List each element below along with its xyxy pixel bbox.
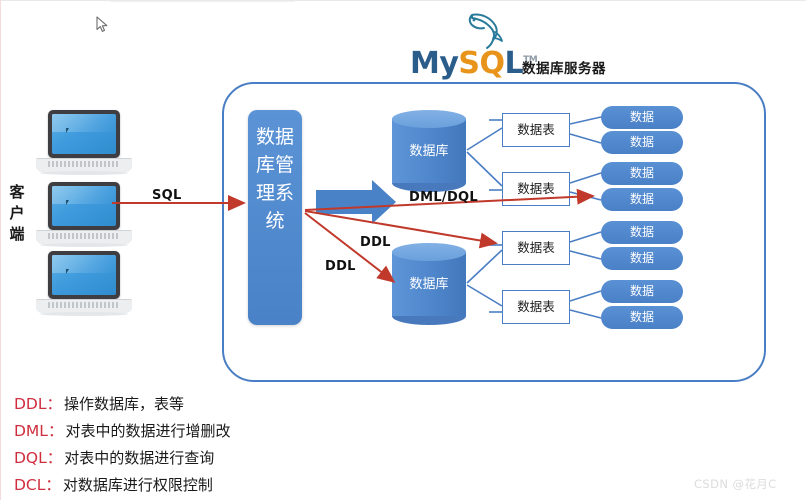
- top-divider-secondary: [110, 1, 295, 2]
- data-pill-label: 数据: [601, 247, 683, 270]
- data-pill-label: 数据: [601, 306, 683, 329]
- diagram-canvas: MySQLTM 数据库服务器: [0, 0, 806, 500]
- data-pill-label: 数据: [601, 188, 683, 211]
- mysql-word-sq: SQ: [458, 46, 504, 81]
- client-laptop-1: [36, 110, 132, 182]
- data-pill-3b: 数据: [601, 247, 683, 270]
- legend-row-dcl: DCL：对数据库进行权限控制: [14, 472, 434, 499]
- laptop-shadow: [40, 243, 128, 247]
- cylinder-top: [392, 110, 466, 128]
- cylinder-top: [392, 243, 466, 261]
- legend-value: 对表中的数据进行增删改: [65, 422, 230, 440]
- ddl-lower-arrow-label: DDL: [325, 259, 356, 274]
- client-laptop-3: [36, 251, 132, 323]
- csdn-watermark: CSDN @花月C: [694, 476, 777, 492]
- sql-arrow-label: SQL: [152, 188, 182, 203]
- database-server-container: [222, 82, 766, 382]
- server-title: 数据库服务器: [522, 57, 606, 77]
- laptop-cursor-icon: [66, 200, 71, 205]
- legend-value: 对数据库进行权限控制: [63, 476, 213, 494]
- data-table-box-3: 数据表: [502, 231, 570, 265]
- laptop-gloss: [52, 186, 116, 204]
- ddl-upper-arrow-label: DDL: [360, 235, 391, 250]
- mysql-word-my: My: [410, 46, 458, 81]
- dml-dql-arrow-label: DML/DQL: [409, 190, 478, 205]
- data-pill-2a: 数据: [601, 162, 683, 185]
- laptop-shadow: [40, 312, 128, 316]
- database-cylinder-1: 数据库: [392, 110, 466, 192]
- laptop-display: [52, 186, 116, 226]
- laptop-keyboard: [48, 233, 120, 239]
- laptop-display: [52, 114, 116, 154]
- mysql-wordmark: MySQLTM: [410, 46, 520, 76]
- laptop-shadow: [40, 171, 128, 175]
- legend-value: 操作数据库，表等: [64, 395, 184, 413]
- laptop-display: [52, 255, 116, 295]
- legend-key: DQL：: [14, 449, 62, 467]
- laptop-gloss: [52, 255, 116, 273]
- data-pill-4b: 数据: [601, 306, 683, 329]
- data-pill-4a: 数据: [601, 280, 683, 303]
- legend-value: 对表中的数据进行查询: [64, 449, 214, 467]
- client-side-label: 客户端: [7, 182, 27, 245]
- mysql-word-l: L: [505, 46, 524, 81]
- laptop-cursor-icon: [66, 128, 71, 133]
- laptop-keyboard: [48, 302, 120, 308]
- laptop-keyboard: [48, 161, 120, 167]
- laptop-screen: [48, 251, 120, 299]
- data-table-box-1: 数据表: [502, 113, 570, 147]
- legend: DDL：操作数据库，表等 DML：对表中的数据进行增删改 DQL：对表中的数据进…: [14, 391, 434, 499]
- legend-key: DDL：: [14, 395, 62, 413]
- data-pill-label: 数据: [601, 162, 683, 185]
- database-label: 数据库: [392, 140, 466, 159]
- database-cylinder-2: 数据库: [392, 243, 466, 325]
- left-edge-rule: [0, 0, 1, 500]
- data-table-label: 数据表: [503, 232, 569, 263]
- mouse-pointer-icon: [96, 16, 110, 39]
- data-pill-1a: 数据: [601, 106, 683, 129]
- data-pill-label: 数据: [601, 106, 683, 129]
- data-pill-1b: 数据: [601, 131, 683, 154]
- mysql-logo: MySQLTM: [410, 12, 520, 74]
- data-table-box-4: 数据表: [502, 290, 570, 324]
- legend-row-dml: DML：对表中的数据进行增删改: [14, 418, 434, 445]
- legend-key: DCL：: [14, 476, 61, 494]
- dbms-label: 数据库管理系统: [248, 123, 302, 235]
- legend-key: DML：: [14, 422, 63, 440]
- laptop-screen: [48, 110, 120, 158]
- laptop-gloss: [52, 114, 116, 132]
- client-laptop-2: [36, 182, 132, 254]
- data-table-label: 数据表: [503, 114, 569, 145]
- data-table-label: 数据表: [503, 291, 569, 322]
- data-pill-label: 数据: [601, 280, 683, 303]
- legend-row-dql: DQL：对表中的数据进行查询: [14, 445, 434, 472]
- data-pill-2b: 数据: [601, 188, 683, 211]
- data-table-box-2: 数据表: [502, 172, 570, 206]
- dbms-box: 数据库管理系统: [248, 110, 302, 325]
- data-pill-label: 数据: [601, 221, 683, 244]
- data-table-label: 数据表: [503, 173, 569, 204]
- data-pill-3a: 数据: [601, 221, 683, 244]
- laptop-screen: [48, 182, 120, 230]
- database-label: 数据库: [392, 273, 466, 292]
- data-pill-label: 数据: [601, 131, 683, 154]
- laptop-cursor-icon: [66, 269, 71, 274]
- legend-row-ddl: DDL：操作数据库，表等: [14, 391, 434, 418]
